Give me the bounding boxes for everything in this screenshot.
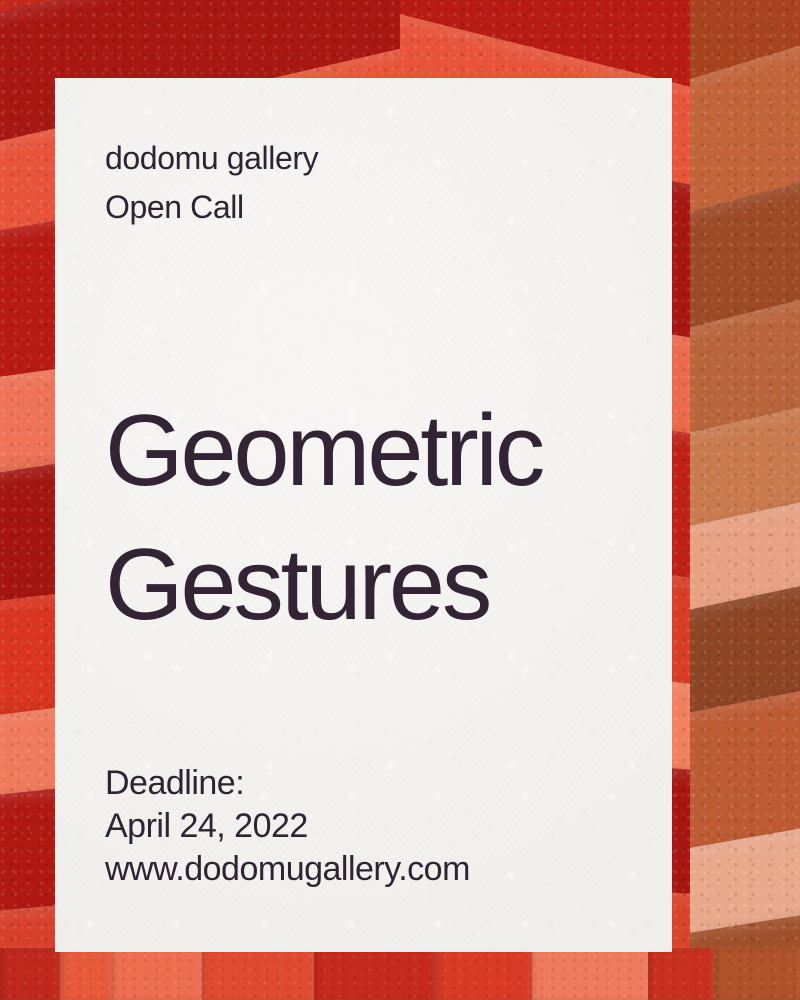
background-right-facets [690,0,800,1000]
bottom-stripe [0,948,60,1000]
bottom-stripe [202,948,314,1000]
bottom-stripe [532,948,648,1000]
open-call-label: Open Call [105,183,622,232]
bottom-stripe [436,948,532,1000]
poster: dodomu gallery Open Call Geometric Gestu… [0,0,800,1000]
eyebrow-block: dodomu gallery Open Call [105,134,622,232]
card-content: dodomu gallery Open Call [55,78,672,952]
bottom-stripe [60,948,112,1000]
bottom-stripe [648,948,714,1000]
bottom-stripe [314,948,436,1000]
background-bottom-stripes [0,948,800,1000]
bottom-stripe [714,948,800,1000]
poster-card: dodomu gallery Open Call Geometric Gestu… [55,78,672,952]
gallery-name: dodomu gallery [105,134,622,183]
bottom-stripe [112,948,202,1000]
